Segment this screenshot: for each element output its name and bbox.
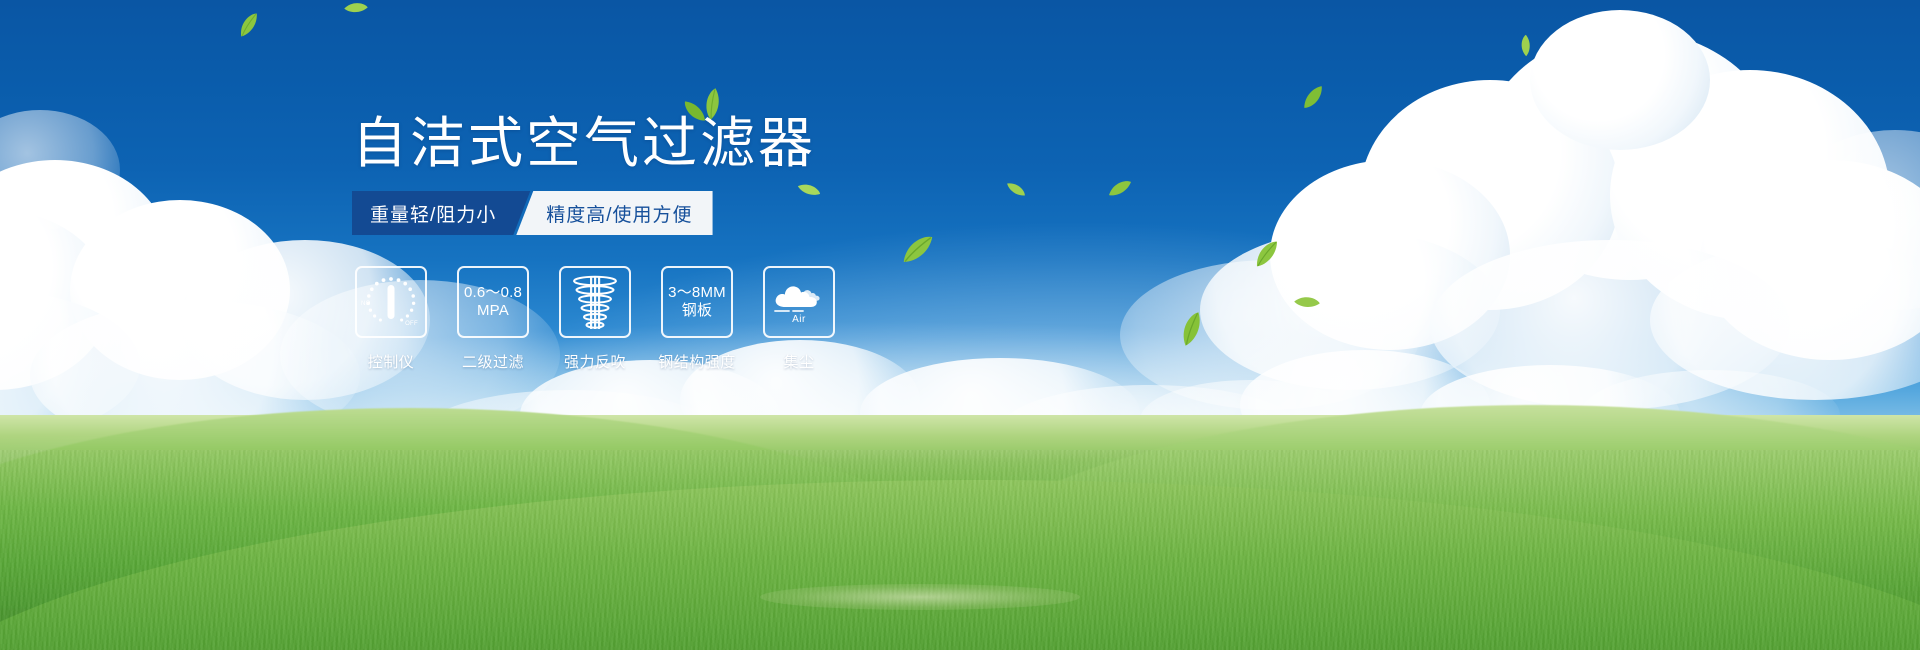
banner-content: 自洁式空气过滤器 重量轻/阻力小 精度高/使用方便 bbox=[0, 0, 1920, 650]
feature-row: NO OFF 控制仪 0.6～0.8 MPA 二级过滤 bbox=[352, 266, 838, 372]
feature-box bbox=[559, 266, 631, 338]
feature-caption: 强力反吹 bbox=[564, 351, 626, 372]
feature-blowback[interactable]: 强力反吹 bbox=[556, 266, 634, 372]
steel-line-2: 钢板 bbox=[668, 302, 726, 320]
feature-box: NO OFF bbox=[355, 266, 427, 338]
dial-pointer bbox=[388, 285, 395, 319]
steel-line-1: 3～8MM bbox=[668, 284, 726, 302]
feature-pressure[interactable]: 0.6～0.8 MPA 二级过滤 bbox=[454, 266, 532, 372]
tag-row: 重量轻/阻力小 精度高/使用方便 bbox=[352, 191, 713, 235]
air-cloud-icon: Air bbox=[769, 277, 829, 327]
pressure-line-1: 0.6～0.8 bbox=[464, 284, 522, 302]
feature-steel-structure[interactable]: 3～8MM 钢板 钢结构强度 bbox=[658, 266, 736, 372]
air-label: Air bbox=[769, 314, 829, 325]
feature-dust-collection[interactable]: Air 集尘 bbox=[760, 266, 838, 372]
feature-caption: 集尘 bbox=[783, 351, 814, 372]
feature-box: 3～8MM 钢板 bbox=[661, 266, 733, 338]
dial-on-label: NO bbox=[361, 301, 371, 307]
feature-box: 0.6～0.8 MPA bbox=[457, 266, 529, 338]
feature-caption: 控制仪 bbox=[368, 351, 415, 372]
feature-caption: 钢结构强度 bbox=[658, 351, 736, 372]
feature-controller[interactable]: NO OFF 控制仪 bbox=[352, 266, 430, 372]
hero-banner: 自洁式空气过滤器 重量轻/阻力小 精度高/使用方便 bbox=[0, 0, 1920, 650]
steel-plate-icon: 3～8MM 钢板 bbox=[668, 284, 726, 320]
pressure-value-icon: 0.6～0.8 MPA bbox=[464, 284, 522, 320]
feature-box: Air bbox=[763, 266, 835, 338]
control-dial-icon: NO OFF bbox=[362, 273, 420, 331]
spring-blowback-icon bbox=[568, 273, 622, 331]
tag-precision-ease[interactable]: 精度高/使用方便 bbox=[516, 191, 712, 235]
tag-weight-resistance[interactable]: 重量轻/阻力小 bbox=[352, 191, 530, 235]
pressure-line-2: MPA bbox=[464, 302, 522, 320]
page-title: 自洁式空气过滤器 bbox=[352, 116, 816, 171]
feature-caption: 二级过滤 bbox=[462, 351, 524, 372]
dial-off-label: OFF bbox=[405, 321, 418, 327]
